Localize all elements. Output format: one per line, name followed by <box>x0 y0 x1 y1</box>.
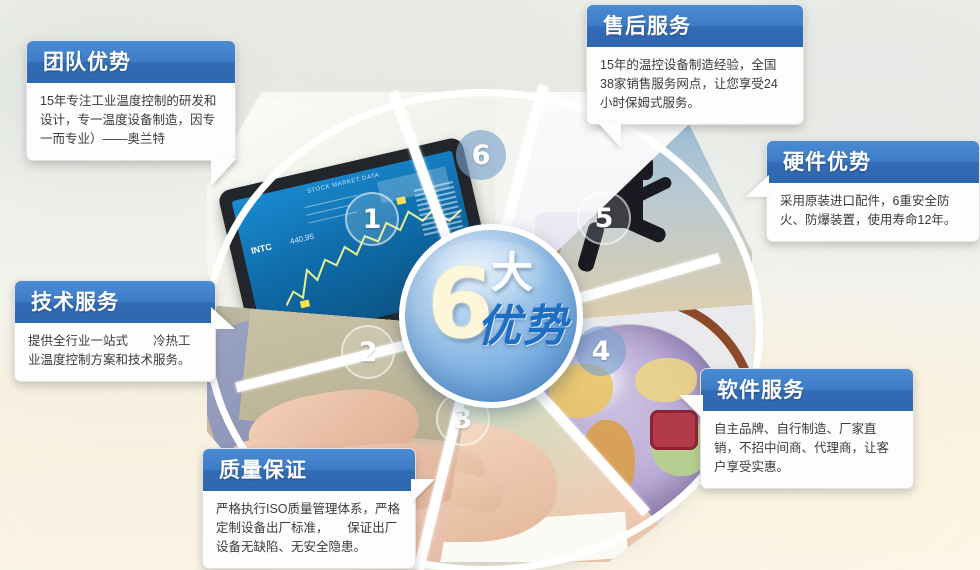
callout-team-title: 团队优势 <box>27 41 235 83</box>
marker-2[interactable]: 2 <box>341 325 395 379</box>
callout-quality-tail <box>411 479 435 503</box>
callout-technical-tail <box>211 307 235 329</box>
callout-after-sales[interactable]: 售后服务 15年的温控设备制造经验，全国38家销售服务网点，让您享受24小时保姆… <box>586 4 804 125</box>
callout-after-sales-tail <box>597 122 621 148</box>
callout-hardware-tail <box>745 175 769 197</box>
marker-4[interactable]: 4 <box>576 326 626 376</box>
callout-software-body: 自主品牌、自行制造、厂家直销，不招中间商、代理商，让客户享受实惠。 <box>701 411 913 488</box>
callout-after-sales-body: 15年的温控设备制造经验，全国38家销售服务网点，让您享受24小时保姆式服务。 <box>587 47 803 124</box>
marker-1[interactable]: 1 <box>345 192 399 246</box>
center-sub-word: 优势 <box>477 304 569 350</box>
callout-team-body: 15年专注工业温度控制的研发和设计，专一温度设备制造，因专一而专业）——奥兰特 <box>27 83 235 160</box>
marker-5[interactable]: 5 <box>577 191 631 245</box>
callout-hardware[interactable]: 硬件优势 采用原装进口配件，6重安全防火、防爆装置，使用寿命12年。 <box>766 140 980 242</box>
callout-software-tail <box>679 395 703 419</box>
marker-1-label: 1 <box>363 204 382 235</box>
callout-quality-body: 严格执行ISO质量管理体系，严格定制设备出厂标准， 保证出厂设备无缺陷、无安全隐… <box>203 491 415 568</box>
marker-6[interactable]: 6 <box>456 130 506 180</box>
marker-2-label: 2 <box>359 337 378 368</box>
callout-hardware-title: 硬件优势 <box>767 141 979 183</box>
callout-quality-title: 质量保证 <box>203 449 415 491</box>
callout-technical-title: 技术服务 <box>15 281 215 323</box>
center-big-word: 大 <box>491 252 533 294</box>
callout-after-sales-title: 售后服务 <box>587 5 803 47</box>
marker-6-label: 6 <box>472 140 491 171</box>
callout-team-tail <box>211 158 237 186</box>
center-hub[interactable]: 6 大 优势 <box>399 224 583 408</box>
callout-technical[interactable]: 技术服务 提供全行业一站式 冷热工业温度控制方案和技术服务。 <box>14 280 216 382</box>
marker-4-label: 4 <box>592 336 611 367</box>
callout-software-title: 软件服务 <box>701 369 913 411</box>
marker-3-label: 3 <box>454 404 473 435</box>
infographic-canvas: STOCK MARKET DATA INTC 440.95 <box>0 0 980 570</box>
callout-quality[interactable]: 质量保证 严格执行ISO质量管理体系，严格定制设备出厂标准， 保证出厂设备无缺陷… <box>202 448 416 569</box>
marker-5-label: 5 <box>595 203 614 234</box>
callout-hardware-body: 采用原装进口配件，6重安全防火、防爆装置，使用寿命12年。 <box>767 183 979 241</box>
stock-marker-high <box>396 196 406 205</box>
stock-symbol: INTC <box>250 242 273 256</box>
callout-software[interactable]: 软件服务 自主品牌、自行制造、厂家直销，不招中间商、代理商，让客户享受实惠。 <box>700 368 914 489</box>
callout-technical-body: 提供全行业一站式 冷热工业温度控制方案和技术服务。 <box>15 323 215 381</box>
callout-team-advantage[interactable]: 团队优势 15年专注工业温度控制的研发和设计，专一温度设备制造，因专一而专业）—… <box>26 40 236 161</box>
